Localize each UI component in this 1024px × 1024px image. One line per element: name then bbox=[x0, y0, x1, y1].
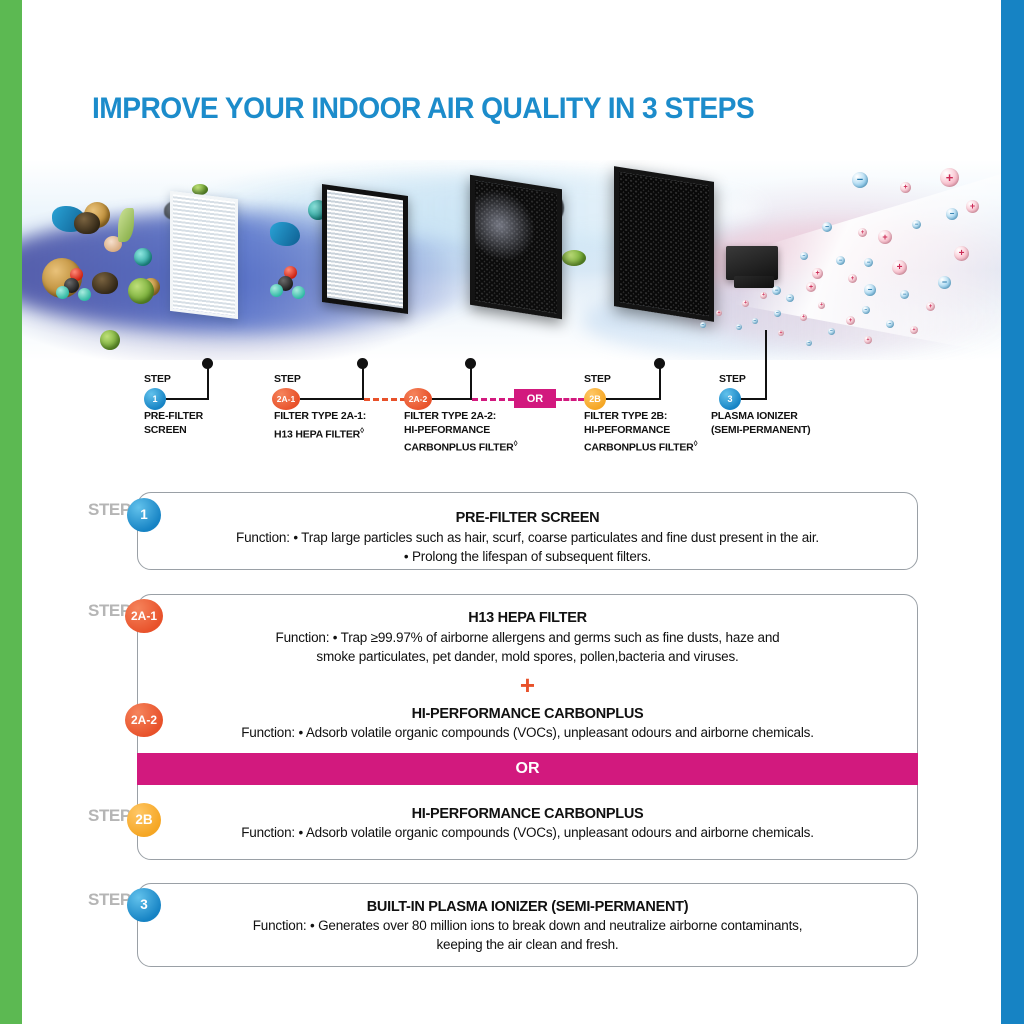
diagram-step-word-2b: STEP bbox=[584, 373, 611, 385]
negative-ion-icon: − bbox=[912, 220, 921, 229]
connector-line-2a1 bbox=[300, 398, 364, 400]
connector-dash-pink-2 bbox=[556, 398, 584, 401]
card-3-title: BUILT-IN PLASMA IONIZER (SEMI-PERMANENT) bbox=[137, 899, 918, 915]
carbonplus-filter-panel-1 bbox=[470, 175, 562, 320]
negative-ion-icon: − bbox=[800, 252, 808, 260]
diagram-step-word-2a1: STEP bbox=[274, 373, 301, 385]
diagram-badge-1: 1 bbox=[144, 388, 166, 410]
card-2a1-title: H13 HEPA FILTER bbox=[137, 610, 918, 626]
diagram-caption-2a2: FILTER TYPE 2A-2: HI-PEFORMANCE CARBONPL… bbox=[404, 410, 517, 455]
connector-riser-3 bbox=[765, 330, 767, 399]
connector-dot-1 bbox=[202, 358, 213, 369]
diagram-badge-2a1: 2A-1 bbox=[272, 388, 300, 410]
negative-ion-icon: − bbox=[946, 208, 958, 220]
positive-ion-icon: + bbox=[940, 168, 959, 187]
dust-mite-icon bbox=[92, 272, 118, 294]
plus-separator-icon: + bbox=[137, 672, 918, 698]
mold-spore-icon bbox=[128, 278, 154, 304]
diagram-caption-2b: FILTER TYPE 2B: HI-PEFORMANCE CARBONPLUS… bbox=[584, 410, 697, 455]
step-connector-row: STEP 1 PRE-FILTER SCREEN STEP 2A-1 FILTE… bbox=[0, 358, 1024, 468]
diagram-caption-3: PLASMA IONIZER (SEMI-PERMANENT) bbox=[711, 410, 810, 437]
positive-ion-icon: + bbox=[892, 260, 907, 275]
plasma-ionizer-device-icon bbox=[726, 246, 778, 280]
voc-molecule-icon bbox=[292, 286, 305, 299]
connector-line-1 bbox=[166, 398, 209, 400]
diagram-caption-1: PRE-FILTER SCREEN bbox=[144, 410, 203, 437]
positive-ion-icon: + bbox=[716, 310, 722, 316]
connector-line-2b bbox=[606, 398, 661, 400]
connector-riser-1 bbox=[207, 365, 209, 399]
positive-ion-icon: + bbox=[848, 274, 857, 283]
positive-ion-icon: + bbox=[954, 246, 969, 261]
negative-ion-icon: − bbox=[852, 172, 868, 188]
dust-mite-icon bbox=[74, 212, 100, 234]
positive-ion-icon: + bbox=[858, 228, 867, 237]
card-2a2-body: Function: • Adsorb volatile organic comp… bbox=[137, 723, 918, 742]
or-divider-bar: OR bbox=[137, 753, 918, 785]
diagram-step-word-3: STEP bbox=[719, 373, 746, 385]
hepa-filter-panel bbox=[322, 184, 408, 314]
connector-riser-2a1 bbox=[362, 365, 364, 399]
positive-ion-icon: + bbox=[846, 316, 855, 325]
connector-dot-2b bbox=[654, 358, 665, 369]
pre-filter-screen-panel bbox=[170, 191, 238, 319]
left-green-border bbox=[0, 0, 22, 1024]
connector-dash-pink-1 bbox=[472, 398, 514, 401]
positive-ion-icon: + bbox=[900, 182, 911, 193]
positive-ion-icon: + bbox=[966, 200, 979, 213]
card-3-step-word: STEP bbox=[88, 890, 131, 910]
card-2b-title: HI-PERFORMANCE CARBONPLUS bbox=[137, 806, 918, 822]
card-1-step-word: STEP bbox=[88, 500, 131, 520]
diagram-badge-3: 3 bbox=[719, 388, 741, 410]
card-2b-step-word: STEP bbox=[88, 806, 131, 826]
card-2b-body: Function: • Adsorb volatile organic comp… bbox=[137, 823, 918, 842]
card-1-title: PRE-FILTER SCREEN bbox=[137, 510, 918, 526]
infographic-page: IMPROVE YOUR INDOOR AIR QUALITY IN 3 STE… bbox=[0, 0, 1024, 1024]
card-1-body: Function: • Trap large particles such as… bbox=[137, 528, 918, 566]
diagram-step-word-1: STEP bbox=[144, 373, 171, 385]
positive-ion-icon: + bbox=[864, 336, 872, 344]
connector-dot-2a2 bbox=[465, 358, 476, 369]
allergen-fiber-icon bbox=[270, 222, 300, 246]
negative-ion-icon: − bbox=[900, 290, 909, 299]
voc-molecule-icon bbox=[270, 284, 283, 297]
negative-ion-icon: − bbox=[786, 294, 794, 302]
negative-ion-icon: − bbox=[862, 306, 870, 314]
card-2a1-body: Function: • Trap ≥99.97% of airborne all… bbox=[137, 628, 918, 666]
negative-ion-icon: − bbox=[864, 258, 873, 267]
right-blue-border bbox=[1001, 0, 1024, 1024]
connector-line-3 bbox=[741, 398, 767, 400]
negative-ion-icon: − bbox=[772, 286, 781, 295]
card-2a2-title: HI-PERFORMANCE CARBONPLUS bbox=[137, 706, 918, 722]
connector-dash-orange bbox=[364, 398, 406, 401]
negative-ion-icon: − bbox=[752, 318, 758, 324]
hero-illustration: −+++−−++−−−−+++−++−−+−−++−+−+++−−+−−++−− bbox=[22, 160, 1001, 360]
negative-ion-icon: − bbox=[822, 222, 832, 232]
positive-ion-icon: + bbox=[818, 302, 825, 309]
bacteria-icon bbox=[562, 250, 586, 266]
diagram-or-chip: OR bbox=[514, 389, 556, 408]
mold-spore-icon bbox=[100, 330, 120, 350]
positive-ion-icon: + bbox=[778, 330, 784, 336]
positive-ion-icon: + bbox=[910, 326, 918, 334]
connector-line-2a2 bbox=[432, 398, 472, 400]
positive-ion-icon: + bbox=[800, 314, 807, 321]
negative-ion-icon: − bbox=[700, 322, 706, 328]
negative-ion-icon: − bbox=[836, 256, 845, 265]
carbonplus-filter-panel-2 bbox=[614, 166, 714, 322]
positive-ion-icon: + bbox=[878, 230, 892, 244]
positive-ion-icon: + bbox=[806, 282, 816, 292]
negative-ion-icon: − bbox=[736, 324, 742, 330]
negative-ion-icon: − bbox=[886, 320, 894, 328]
positive-ion-icon: + bbox=[742, 300, 749, 307]
diagram-badge-2b: 2B bbox=[584, 388, 606, 410]
diagram-badge-2a2: 2A-2 bbox=[404, 388, 432, 410]
connector-riser-2b bbox=[659, 365, 661, 399]
diagram-caption-2a1: FILTER TYPE 2A-1: H13 HEPA FILTER◊ bbox=[274, 410, 366, 442]
connector-dot-2a1 bbox=[357, 358, 368, 369]
plasma-ionizer-base bbox=[734, 276, 774, 288]
positive-ion-icon: + bbox=[926, 302, 935, 311]
virus-icon bbox=[134, 248, 152, 266]
page-title: IMPROVE YOUR INDOOR AIR QUALITY IN 3 STE… bbox=[92, 92, 754, 126]
voc-molecule-icon bbox=[56, 286, 69, 299]
negative-ion-icon: − bbox=[774, 310, 781, 317]
connector-riser-2a2 bbox=[470, 365, 472, 399]
negative-ion-icon: − bbox=[938, 276, 951, 289]
negative-ion-icon: − bbox=[828, 328, 835, 335]
negative-ion-icon: − bbox=[864, 284, 876, 296]
positive-ion-icon: + bbox=[760, 292, 767, 299]
voc-molecule-icon bbox=[78, 288, 91, 301]
positive-ion-icon: + bbox=[812, 268, 823, 279]
card-3-body: Function: • Generates over 80 million io… bbox=[137, 916, 918, 954]
negative-ion-icon: − bbox=[806, 340, 812, 346]
